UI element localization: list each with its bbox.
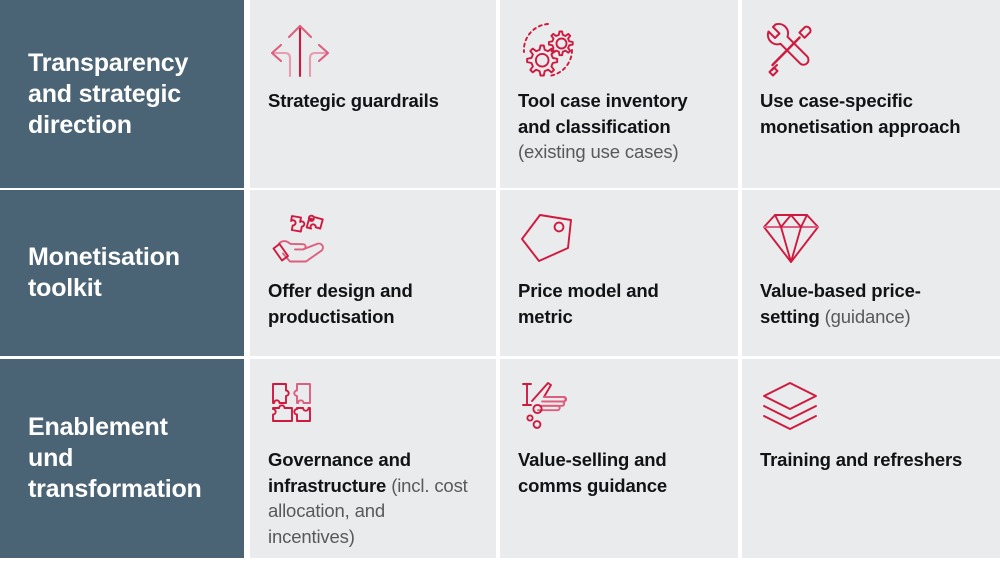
hand-with-puzzle-pieces-icon: [268, 210, 476, 276]
matrix-row: Monetisation toolkit Offer design and pr…: [0, 190, 1000, 356]
matrix-cell[interactable]: Value-selling and comms guidance: [500, 359, 738, 558]
matrix-cell-label: Governance and infrastructure: [268, 449, 411, 496]
matrix-cell[interactable]: Offer design and productisation: [250, 190, 496, 356]
category-panel-enablement: Enablement und transformation: [0, 359, 244, 558]
matrix-cell-text: Tool case inventory and classification (…: [518, 88, 718, 165]
matrix-cell[interactable]: Price model and metric: [500, 190, 738, 356]
diamond-icon: [760, 210, 980, 276]
category-panel-transparency: Transparency and strategic direction: [0, 0, 244, 188]
puzzle-grid-icon: [268, 379, 476, 445]
stacked-layers-icon: [760, 379, 980, 445]
matrix-cell-note: (guidance): [825, 306, 911, 327]
matrix-cell-label: Offer design and productisation: [268, 280, 413, 327]
price-tag-icon: [518, 210, 718, 276]
matrix-cell-text: Strategic guardrails: [268, 88, 476, 114]
matrix-row: Enablement und transformation Governance…: [0, 359, 1000, 558]
matrix-cell-text: Value-selling and comms guidance: [518, 447, 718, 498]
matrix-cell-note: (existing use cases): [518, 141, 678, 162]
matrix-cell-text: Price model and metric: [518, 278, 718, 329]
matrix-cell-label: Use case-specific monetisation approach: [760, 90, 960, 137]
matrix-cell-text: Value-based price-setting (guidance): [760, 278, 980, 329]
branching-arrows-icon: [268, 20, 476, 86]
matrix-cell[interactable]: Training and refreshers: [742, 359, 1000, 558]
matrix-cell-label: Price model and metric: [518, 280, 659, 327]
matrix-cell-label: Tool case inventory and classification: [518, 90, 688, 137]
matrix-cell-text: Use case-specific monetisation approach: [760, 88, 980, 139]
category-title: Enablement und transformation: [28, 412, 218, 505]
gears-icon: [518, 20, 718, 86]
matrix-cell-label: Training and refreshers: [760, 449, 962, 470]
matrix-cell[interactable]: Strategic guardrails: [250, 0, 496, 188]
capability-matrix: Transparency and strategic direction Str…: [0, 0, 1000, 567]
matrix-cell-label: Strategic guardrails: [268, 90, 439, 111]
category-title: Transparency and strategic direction: [28, 48, 218, 141]
matrix-cell-text: Training and refreshers: [760, 447, 980, 473]
matrix-cell[interactable]: Value-based price-setting (guidance): [742, 190, 1000, 356]
matrix-cell-text: Offer design and productisation: [268, 278, 476, 329]
matrix-cell-text: Governance and infrastructure (incl. cos…: [268, 447, 476, 549]
matrix-cell[interactable]: Governance and infrastructure (incl. cos…: [250, 359, 496, 558]
category-title: Monetisation toolkit: [28, 242, 218, 304]
matrix-cell-label: Value-selling and comms guidance: [518, 449, 667, 496]
category-panel-monetisation: Monetisation toolkit: [0, 190, 244, 356]
crossed-tools-icon: [760, 20, 980, 86]
matrix-cell[interactable]: Use case-specific monetisation approach: [742, 0, 1000, 188]
matrix-cell[interactable]: Tool case inventory and classification (…: [500, 0, 738, 188]
hand-pointing-icon: [518, 379, 718, 445]
matrix-row: Transparency and strategic direction Str…: [0, 0, 1000, 188]
